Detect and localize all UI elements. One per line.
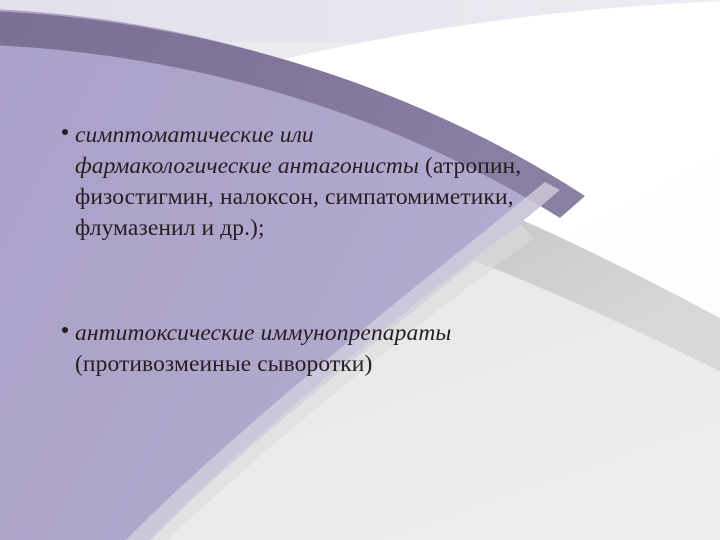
text-segment: симптоматические или xyxy=(75,122,314,148)
bullet-line: (противозмеиные сыворотки) xyxy=(62,349,674,380)
bullet-line: антитоксические иммунопрепараты xyxy=(62,318,674,349)
bullet-symptomatic-antagonists: симптоматические или фармакологические а… xyxy=(62,120,674,244)
bullet-line: физостигмин, налоксон, симпатомиметики, xyxy=(62,182,674,213)
bullet-dot-icon xyxy=(62,327,68,333)
bullet-dot-icon xyxy=(62,129,68,135)
slide-text-content: симптоматические или фармакологические а… xyxy=(0,0,720,540)
bullet-line: фармакологические антагонисты (атропин, xyxy=(62,151,674,182)
bullet-antitoxic-immunopreparations: антитоксические иммунопрепараты (противо… xyxy=(62,318,674,380)
text-segment: антитоксические иммунопрепараты xyxy=(75,320,451,346)
text-segment: фармакологические антагонисты xyxy=(75,153,425,179)
text-segment: флумазенил и др.); xyxy=(75,215,265,241)
text-segment: физостигмин, налоксон, симпатомиметики, xyxy=(75,184,514,210)
text-segment: (атропин, xyxy=(425,153,521,179)
text-segment: (противозмеиные сыворотки) xyxy=(75,351,372,377)
presentation-slide: симптоматические или фармакологические а… xyxy=(0,0,720,540)
bullet-line: симптоматические или xyxy=(62,120,674,151)
bullet-line: флумазенил и др.); xyxy=(62,213,674,244)
